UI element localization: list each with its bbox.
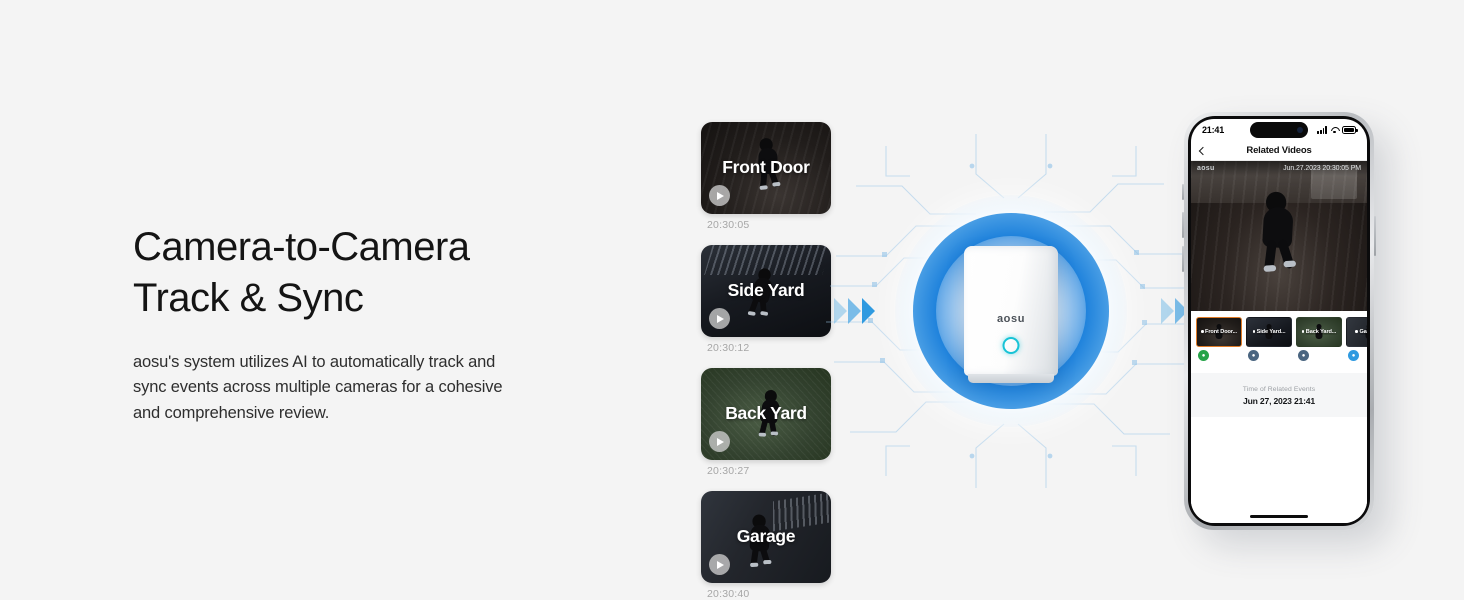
thumbnail-label: Side Yard...	[1247, 329, 1291, 335]
app-navigation-bar: Related Videos	[1191, 141, 1367, 161]
sync-arrows-left	[834, 298, 875, 324]
cellular-signal-icon	[1317, 126, 1327, 134]
marketing-copy: Camera-to-Camera Track & Sync aosu's sys…	[133, 222, 653, 426]
play-icon[interactable]	[709, 308, 730, 329]
event-card[interactable]: Back Yard20:30:27	[701, 368, 833, 477]
dynamic-island	[1250, 122, 1308, 138]
related-video-thumbnail[interactable]: Side Yard...●	[1246, 317, 1292, 365]
event-card-label: Garage	[701, 526, 831, 547]
event-card-label: Front Door	[701, 157, 831, 178]
video-player[interactable]: aosu Jun.27.2023 20:30:05 PM	[1191, 161, 1367, 311]
event-type-badge-icon: ●	[1248, 350, 1259, 361]
event-card-thumbnail[interactable]: Side Yard	[701, 245, 831, 337]
status-bar-time: 21:41	[1202, 125, 1224, 135]
page-description: aosu's system utilizes AI to automatical…	[133, 350, 653, 425]
hub-base	[968, 374, 1054, 383]
page-title: Camera-to-Camera Track & Sync	[133, 222, 653, 324]
hub-illustration: aosu	[826, 126, 1196, 496]
event-card-label: Back Yard	[701, 403, 831, 424]
hub-body	[964, 246, 1058, 376]
event-type-badge-icon: ●	[1348, 350, 1359, 361]
event-card-thumbnail[interactable]: Back Yard	[701, 368, 831, 460]
event-card-list: Front Door20:30:05Side Yard20:30:12Back …	[701, 122, 833, 600]
related-video-thumbnail[interactable]: Front Door...●	[1196, 317, 1242, 365]
play-icon[interactable]	[709, 185, 730, 206]
battery-icon	[1342, 126, 1356, 134]
thumbnail-image: Front Door...	[1196, 317, 1242, 347]
player-overlay-bar: aosu Jun.27.2023 20:30:05 PM	[1191, 161, 1367, 176]
chevron-right-icon	[862, 298, 875, 324]
event-card[interactable]: Garage20:30:40	[701, 491, 833, 600]
screen-title: Related Videos	[1246, 145, 1311, 156]
status-bar-indicators	[1317, 126, 1356, 134]
event-card-thumbnail[interactable]: Garage	[701, 491, 831, 583]
phone-screen: 21:41 Related Videos aosu	[1191, 119, 1367, 523]
player-watermark: aosu	[1197, 165, 1215, 172]
event-card-label: Side Yard	[701, 280, 831, 301]
thumbnail-label: Back Yard...	[1297, 329, 1341, 335]
thumbnail-label: Garage...	[1347, 329, 1367, 335]
chevron-right-icon	[848, 298, 861, 324]
hub-brand-label: aosu	[964, 313, 1058, 325]
related-video-thumbnail-strip[interactable]: Front Door...●Side Yard...●Back Yard...●…	[1191, 311, 1367, 365]
related-video-thumbnail[interactable]: Back Yard...●	[1296, 317, 1342, 365]
home-indicator[interactable]	[1250, 515, 1308, 518]
player-timestamp: Jun.27.2023 20:30:05 PM	[1283, 165, 1361, 172]
chevron-right-icon	[834, 298, 847, 324]
hub-status-led-icon	[1003, 337, 1020, 354]
event-card-time: 20:30:05	[701, 219, 833, 231]
thumbnail-label: Front Door...	[1197, 329, 1241, 335]
intruder-figure	[1255, 190, 1300, 267]
event-type-badge-icon: ●	[1298, 350, 1309, 361]
back-chevron-icon[interactable]	[1199, 146, 1207, 154]
wifi-icon	[1330, 126, 1339, 134]
event-card-time: 20:30:27	[701, 465, 833, 477]
phone-mute-switch[interactable]	[1182, 184, 1184, 200]
status-bar: 21:41	[1191, 119, 1367, 141]
event-card-time: 20:30:12	[701, 342, 833, 354]
play-icon[interactable]	[709, 554, 730, 575]
phone-power-button[interactable]	[1374, 216, 1376, 256]
thumbnail-image: Side Yard...	[1246, 317, 1292, 347]
event-type-badge-icon: ●	[1198, 350, 1209, 361]
front-camera-icon	[1297, 127, 1303, 133]
event-card[interactable]: Side Yard20:30:12	[701, 245, 833, 354]
phone-volume-down-button[interactable]	[1182, 246, 1184, 272]
phone-mockup: 21:41 Related Videos aosu	[1184, 112, 1374, 530]
chevron-right-icon	[1161, 298, 1174, 324]
event-card-time: 20:30:40	[701, 588, 833, 600]
related-events-label: Time of Related Events	[1191, 386, 1367, 393]
phone-volume-up-button[interactable]	[1182, 212, 1184, 238]
event-card-thumbnail[interactable]: Front Door	[701, 122, 831, 214]
aosu-hub-device: aosu	[964, 246, 1058, 376]
play-icon[interactable]	[709, 431, 730, 452]
thumbnail-image: Garage...	[1346, 317, 1367, 347]
events-empty-area	[1191, 417, 1367, 523]
related-events-panel: Time of Related Events Jun 27, 2023 21:4…	[1191, 373, 1367, 523]
related-events-value: Jun 27, 2023 21:41	[1191, 396, 1367, 406]
event-card[interactable]: Front Door20:30:05	[701, 122, 833, 231]
related-video-thumbnail[interactable]: Garage...●	[1346, 317, 1367, 365]
thumbnail-image: Back Yard...	[1296, 317, 1342, 347]
